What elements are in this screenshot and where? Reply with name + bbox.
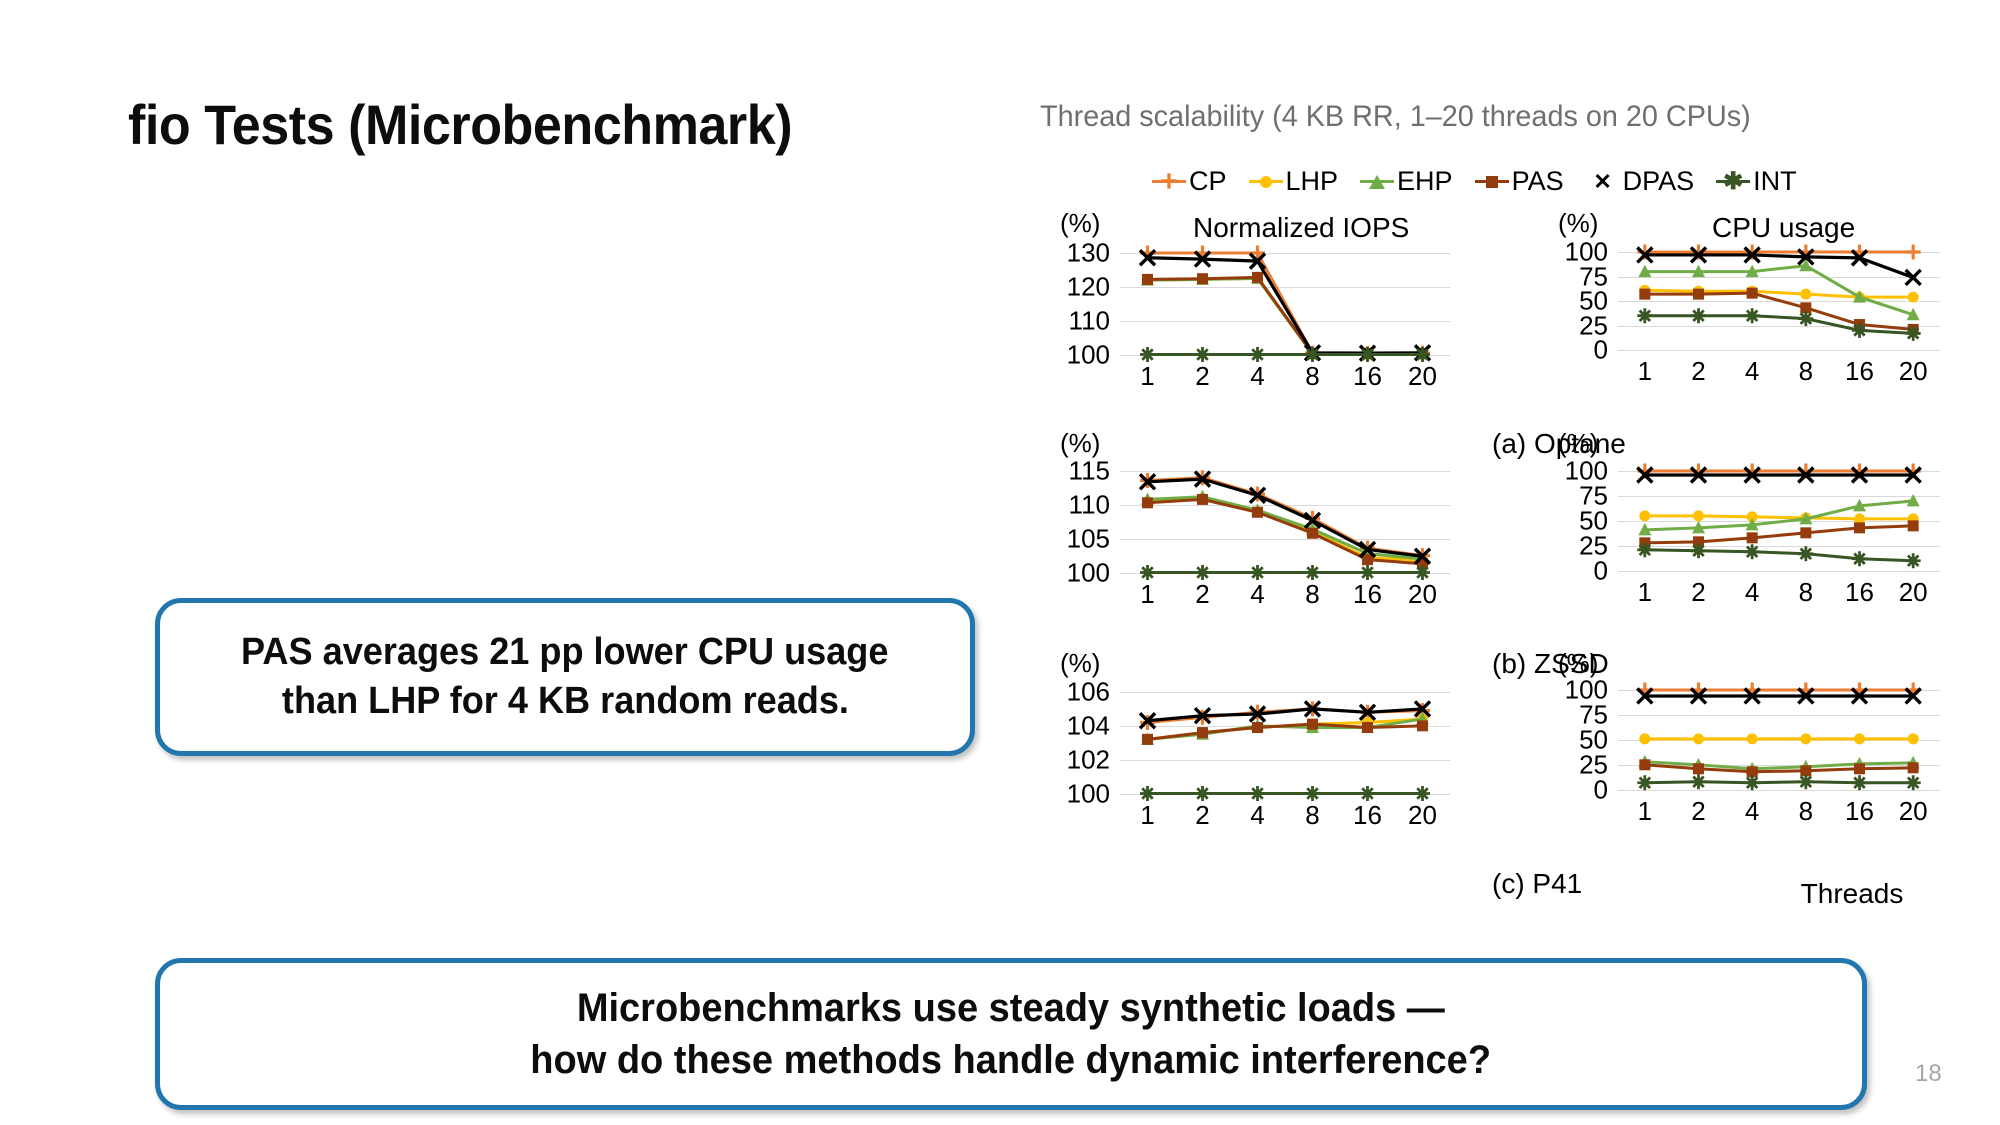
x-axis-tick: 2 [1195,579,1209,610]
x-axis-tick: 8 [1305,800,1319,831]
x-axis-tick: 1 [1140,579,1154,610]
plot-area: 025507510012481620 [1618,471,1940,571]
x-axis-tick: 16 [1845,356,1874,387]
y-axis-tick: 110 [1069,305,1110,336]
legend-label: PAS [1512,166,1564,197]
x-axis-tick: 16 [1353,579,1382,610]
series-int [1140,565,1430,580]
callout-question-line1: Microbenchmarks use steady synthetic loa… [577,982,1445,1034]
legend-item-dpas: ✕DPAS [1586,166,1695,197]
x-axis-tick: 1 [1140,800,1154,831]
page-title: fio Tests (Microbenchmark) [128,92,792,157]
callout-question-line2: how do these methods handle dynamic inte… [531,1034,1492,1086]
triangle-icon [1360,173,1394,191]
series-layer [1618,471,1940,571]
y-axis-tick: 130 [1067,238,1110,269]
series-int [1140,347,1430,362]
x-axis-tick: 16 [1845,577,1874,608]
x-axis-tick: 4 [1745,796,1759,827]
figure-caption: Thread scalability (4 KB RR, 1–20 thread… [1040,100,1751,134]
legend-item-lhp: LHP [1249,166,1339,197]
series-pas [1639,288,1918,335]
series-int [1637,308,1920,341]
legend-item-pas: PAS [1475,166,1564,197]
x-axis-tick: 8 [1305,361,1319,392]
chart-title-iops: Normalized IOPS [1193,212,1409,244]
legend-label: CP [1189,166,1227,197]
circle-icon [1249,173,1283,191]
x-axis-tick: 8 [1305,579,1319,610]
x-axis-tick: 16 [1845,796,1874,827]
chart-legend: +CPLHPEHPPAS✕DPAS✱INT [1152,166,1797,197]
legend-label: EHP [1397,166,1453,197]
y-axis-tick: 105 [1067,523,1110,554]
series-cp [1140,246,1430,361]
series-layer [1120,692,1450,794]
legend-label: DPAS [1623,166,1695,197]
x-axis-tick: 4 [1745,356,1759,387]
series-cp [1140,470,1430,563]
y-axis-unit-label: (%) [1060,208,1100,239]
x-axis-tick: 16 [1353,800,1382,831]
gridline [1618,790,1940,791]
plot-area: 10010511011512481620 [1120,471,1450,573]
callout-statistic-line2: than LHP for 4 KB random reads. [281,677,848,726]
y-axis-tick: 100 [1565,456,1608,487]
callout-statistic: PAS averages 21 pp lower CPU usage than … [155,598,975,756]
x-axis-tick: 1 [1638,577,1652,608]
series-int [1140,786,1430,801]
x-axis-name: Threads [1801,878,1904,910]
panel-label-1: (a) Optane [1492,428,1626,460]
x-axis-tick: 1 [1638,796,1652,827]
x-axis-tick: 16 [1353,361,1382,392]
series-pas [1639,520,1918,548]
x-axis-tick: 4 [1745,577,1759,608]
x-axis-tick: 1 [1140,361,1154,392]
x-axis-tick: 20 [1408,579,1437,610]
gridline [1618,350,1940,351]
x-axis-tick: 4 [1250,800,1264,831]
y-axis-tick: 100 [1565,237,1608,268]
chart-zssd-cpu: 025507510012481620 [1618,471,1940,571]
y-axis-unit-label: (%) [1060,428,1100,459]
series-layer [1618,252,1940,350]
callout-question: Microbenchmarks use steady synthetic loa… [155,958,1867,1110]
plot-area: 025507510012481620 [1618,252,1940,350]
x-axis-tick: 4 [1250,579,1264,610]
page-number: 18 [1915,1060,1942,1088]
y-axis-tick: 100 [1067,557,1110,588]
series-layer [1120,471,1450,573]
chart-zssd-iops: 10010511011512481620 [1120,471,1450,573]
x-axis-tick: 2 [1195,800,1209,831]
square-icon [1475,173,1509,191]
series-layer [1618,690,1940,790]
legend-item-cp: +CP [1152,166,1227,197]
y-axis-tick: 110 [1069,489,1110,520]
gridline [1618,571,1940,572]
series-pas [1142,272,1428,359]
legend-label: LHP [1286,166,1339,197]
x-axis-tick: 2 [1691,796,1705,827]
chart-optane-cpu: 025507510012481620 [1618,252,1940,350]
callout-statistic-line1: PAS averages 21 pp lower CPU usage [241,628,888,677]
plus-icon: + [1152,173,1186,191]
y-axis-tick: 104 [1067,710,1110,741]
chart-p41-cpu: 025507510012481620 [1618,690,1940,790]
y-axis-tick: 102 [1067,744,1110,775]
panel-label-2: (b) ZSSD [1492,648,1609,680]
legend-item-int: ✱INT [1716,166,1797,197]
y-axis-unit-label: (%) [1558,208,1598,239]
y-axis-tick: 100 [1067,778,1110,809]
series-dpas [1140,250,1430,360]
asterisk-icon: ✱ [1716,173,1750,191]
y-axis-tick: 106 [1067,677,1110,708]
x-axis-tick: 20 [1899,796,1928,827]
x-axis-tick: 20 [1899,356,1928,387]
series-int [1637,774,1920,790]
x-axis-tick: 4 [1250,361,1264,392]
x-axis-tick: 8 [1799,577,1813,608]
panel-label-3: (c) P41 [1492,868,1582,900]
legend-label: INT [1753,166,1797,197]
chart-optane-iops: 10011012013012481620 [1120,253,1450,355]
legend-item-ehp: EHP [1360,166,1453,197]
x-axis-tick: 20 [1408,800,1437,831]
x-icon: ✕ [1586,173,1620,191]
plot-area: 025507510012481620 [1618,690,1940,790]
chart-title-cpu: CPU usage [1712,212,1855,244]
chart-p41-iops: 10010210410612481620 [1120,692,1450,794]
x-axis-tick: 20 [1899,577,1928,608]
series-lhp [1639,733,1918,744]
x-axis-tick: 8 [1799,796,1813,827]
y-axis-tick: 115 [1069,456,1110,487]
y-axis-tick: 100 [1067,339,1110,370]
series-layer [1120,253,1450,355]
y-axis-unit-label: (%) [1060,648,1100,679]
y-axis-tick: 120 [1067,271,1110,302]
x-axis-tick: 2 [1691,356,1705,387]
x-axis-tick: 2 [1691,577,1705,608]
plot-area: 10011012013012481620 [1120,253,1450,355]
x-axis-tick: 8 [1799,356,1813,387]
x-axis-tick: 2 [1195,361,1209,392]
series-int [1637,542,1920,568]
x-axis-tick: 1 [1638,356,1652,387]
x-axis-tick: 20 [1408,361,1437,392]
plot-area: 10010210410612481620 [1120,692,1450,794]
